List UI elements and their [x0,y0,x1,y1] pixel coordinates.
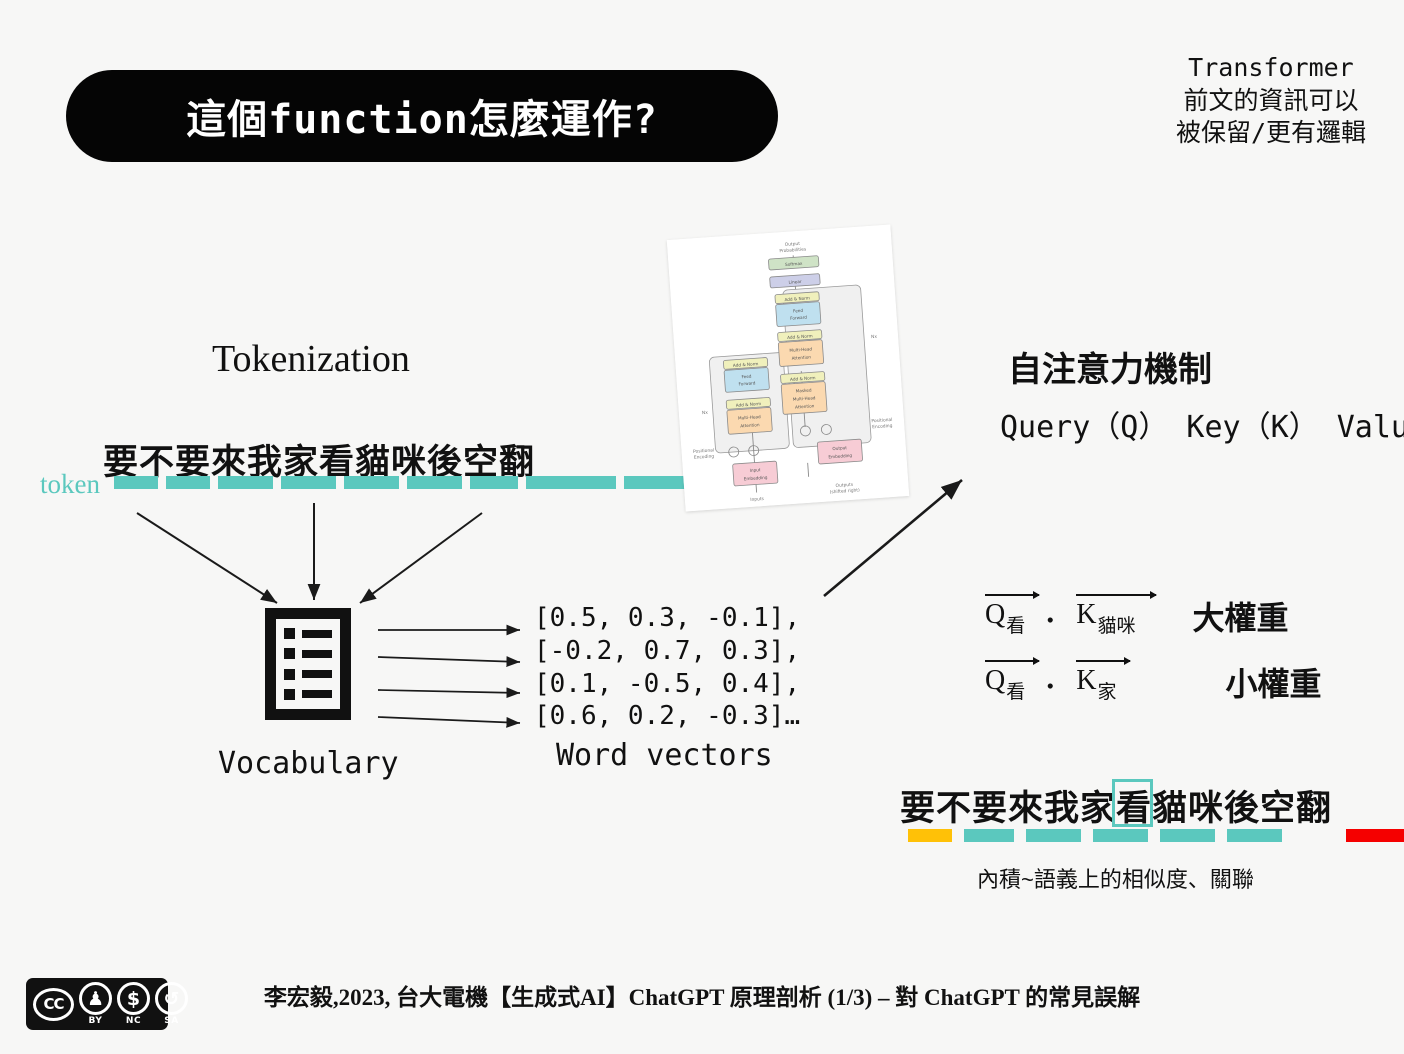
line-bar-icon [302,630,332,638]
token-bar-6 [407,476,462,489]
token-label: token [40,469,100,500]
query-symbol: Q [985,601,1005,629]
token-bar-group [114,476,731,489]
attention-bar-7 [1294,829,1334,842]
cc-nc-label: NC [126,1016,141,1026]
cc-by-group: ♟ BY [79,982,112,1026]
page-title: 這個function怎麼運作? [186,87,658,145]
attention-bar-4 [1093,829,1148,842]
vocabulary-to-vectors-arrows [378,630,520,723]
transformer-note-line-2: 前文的資訊可以 [1176,85,1366,118]
vocabulary-icon [265,608,351,720]
svg-text:Linear: Linear [788,279,802,285]
person-icon: ♟ [79,982,112,1015]
vocabulary-icon-row [284,689,332,700]
token-bar-2 [166,476,210,489]
creative-commons-badge[interactable]: CC ♟ BY $ NC ↺ SA [26,978,168,1030]
cc-sa-group: ↺ SA [155,982,188,1026]
key-symbol: K [1076,601,1096,629]
vocabulary-icon-row [284,669,332,680]
key-symbol: K [1076,667,1096,695]
attention-bar-6 [1227,829,1282,842]
token-bar-5 [344,476,399,489]
weight-formula-row: Q 看 ・ K 貓咪 大權重 [985,592,1322,658]
word-vectors-values: [0.5, 0.3, -0.1], [-0.2, 0.7, 0.3], [0.1… [534,602,800,733]
tokenization-heading: Tokenization [212,337,410,381]
tokens-to-vocabulary-arrows [137,503,482,603]
word-vectors-label: Word vectors [556,738,773,773]
svg-text:Output: Output [832,445,847,451]
transformer-architecture-figure: Output Probabilities Nx Nx Positional En… [667,225,909,512]
focus-token-highlight-box [1112,779,1153,827]
slide-canvas: 這個function怎麼運作? Transformer 前文的資訊可以 被保留/… [0,0,1404,1054]
token-bar-3 [218,476,273,489]
self-attention-heading: 自注意力機制 [1008,342,1212,391]
cc-nc-group: $ NC [117,982,150,1026]
key-vector-term: K 貓咪 [1076,592,1134,629]
attention-bar-8 [1346,829,1404,842]
transformer-note-line-1: Transformer [1176,52,1366,85]
attention-bar-5 [1160,829,1215,842]
key-subscript: 家 [1097,683,1116,702]
weight-magnitude-label: 大權重 [1193,592,1289,634]
query-subscript: 看 [1006,617,1025,636]
no-money-icon: $ [117,982,150,1015]
transformer-note-line-3: 被保留/更有邏輯 [1176,117,1366,150]
query-vector-term: Q 看 [985,592,1024,629]
vocabulary-label: Vocabulary [218,746,399,781]
bullet-square-icon [284,689,295,700]
line-bar-icon [302,650,332,658]
attention-bar-1 [908,829,952,842]
svg-text:Feed: Feed [741,374,752,380]
query-symbol: Q [985,667,1005,695]
token-bar-7 [470,476,518,489]
key-vector-term: K 家 [1076,658,1115,695]
token-bar-1 [114,476,158,489]
cc-sa-label: SA [164,1016,178,1026]
key-subscript: 貓咪 [1097,617,1135,636]
bullet-square-icon [284,669,295,680]
query-subscript: 看 [1006,683,1025,702]
footer-credit: 李宏毅,2023, 台大電機【生成式AI】ChatGPT 原理剖析 (1/3) … [0,978,1404,1012]
line-bar-icon [302,690,332,698]
svg-text:Output: Output [785,241,801,248]
weight-magnitude-label: 小權重 [1226,658,1322,700]
token-bar-4 [281,476,336,489]
svg-text:Feed: Feed [793,308,804,314]
cc-by-label: BY [89,1016,103,1026]
token-bar-8 [526,476,616,489]
vocabulary-icon-row [284,628,332,639]
svg-text:Input: Input [749,467,761,473]
attention-bar-2 [964,829,1014,842]
cc-icon: CC [33,988,74,1021]
bullet-square-icon [284,628,295,639]
vocabulary-icon-row [284,648,332,659]
weight-formula-row: Q 看 ・ K 家 小權重 [985,658,1322,724]
attention-caption: 內積~語義上的相似度、關聯 [977,862,1254,894]
svg-text:Nx: Nx [702,410,709,416]
qkv-list: Query（Q） Key（K） Value（V） [1000,405,1404,451]
svg-text:Inputs: Inputs [750,496,765,503]
bullet-square-icon [284,648,295,659]
transformer-note: Transformer 前文的資訊可以 被保留/更有邏輯 [1176,52,1366,150]
attention-bar-3 [1026,829,1081,842]
query-vector-term: Q 看 [985,658,1024,695]
svg-text:Nx: Nx [871,334,878,340]
attention-bar-group [908,829,1404,842]
line-bar-icon [302,670,332,678]
share-alike-icon: ↺ [155,982,188,1015]
attention-weight-formulas: Q 看 ・ K 貓咪 大權重 Q 看 ・ K 家 小權重 [985,592,1322,724]
slide-title-pill: 這個function怎麼運作? [66,70,778,162]
